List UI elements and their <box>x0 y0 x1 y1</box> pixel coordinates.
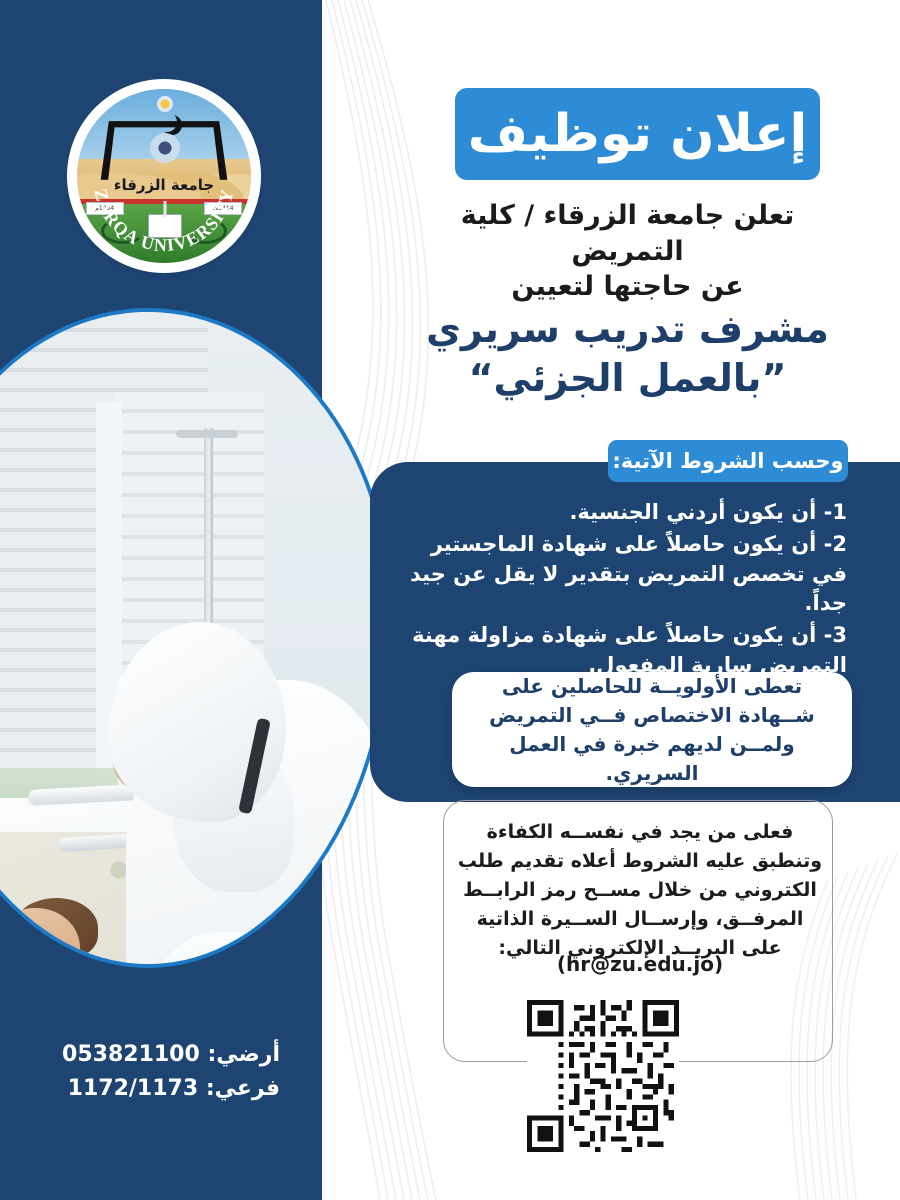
intro-text: تعلن جامعة الزرقاء / كلية التمريض عن حاج… <box>400 198 855 305</box>
intro-line-2: عن حاجتها لتعيين <box>400 269 855 305</box>
conditions-badge: وحسب الشروط الآتية: <box>608 440 848 482</box>
job-title-line-1: مشرف تدريب سريري <box>400 305 855 354</box>
nurse-patient-photo <box>0 312 388 964</box>
apply-email: (hr@zu.edu.jo) <box>455 952 825 976</box>
university-logo: جامعة الزرقاء 1994م 1414هـ ZARQA UNIVERS… <box>70 82 258 270</box>
poster-root: جامعة الزرقاء 1994م 1414هـ ZARQA UNIVERS… <box>0 0 900 1200</box>
conditions-badge-label: وحسب الشروط الآتية: <box>612 449 843 473</box>
condition-item: 2- أن يكون حاصلاً على شهادة الماجستير في… <box>395 530 847 619</box>
header-badge-label: إعلان توظيف <box>468 104 808 164</box>
job-title: مشرف تدريب سريري ”بالعمل الجزئي“ <box>400 305 855 404</box>
header-badge: إعلان توظيف <box>455 88 820 180</box>
priority-note-text: تعطى الأولويــة للحاصلين على شــهادة الا… <box>474 672 830 788</box>
qr-code[interactable] <box>527 1000 679 1152</box>
job-title-line-2: ”بالعمل الجزئي“ <box>400 354 855 403</box>
intro-line-1: تعلن جامعة الزرقاء / كلية التمريض <box>400 198 855 269</box>
svg-text:ZARQA UNIVERSITY: ZARQA UNIVERSITY <box>90 187 237 256</box>
phone-landline: أرضي: 053821100 <box>20 1038 280 1072</box>
phone-extension: فرعي: 1172/1173 <box>20 1072 280 1106</box>
priority-note-box: تعطى الأولويــة للحاصلين على شــهادة الا… <box>452 672 852 787</box>
condition-item: 1- أن يكون أردني الجنسية. <box>395 498 847 528</box>
conditions-list: 1- أن يكون أردني الجنسية. 2- أن يكون حاص… <box>395 498 855 683</box>
logo-english-name: ZARQA UNIVERSITY <box>77 89 251 263</box>
contact-phones: أرضي: 053821100 فرعي: 1172/1173 <box>20 1038 280 1106</box>
apply-instructions-text: فعلى من يجد في نفســه الكفاءة وتنطبق علي… <box>455 818 825 962</box>
